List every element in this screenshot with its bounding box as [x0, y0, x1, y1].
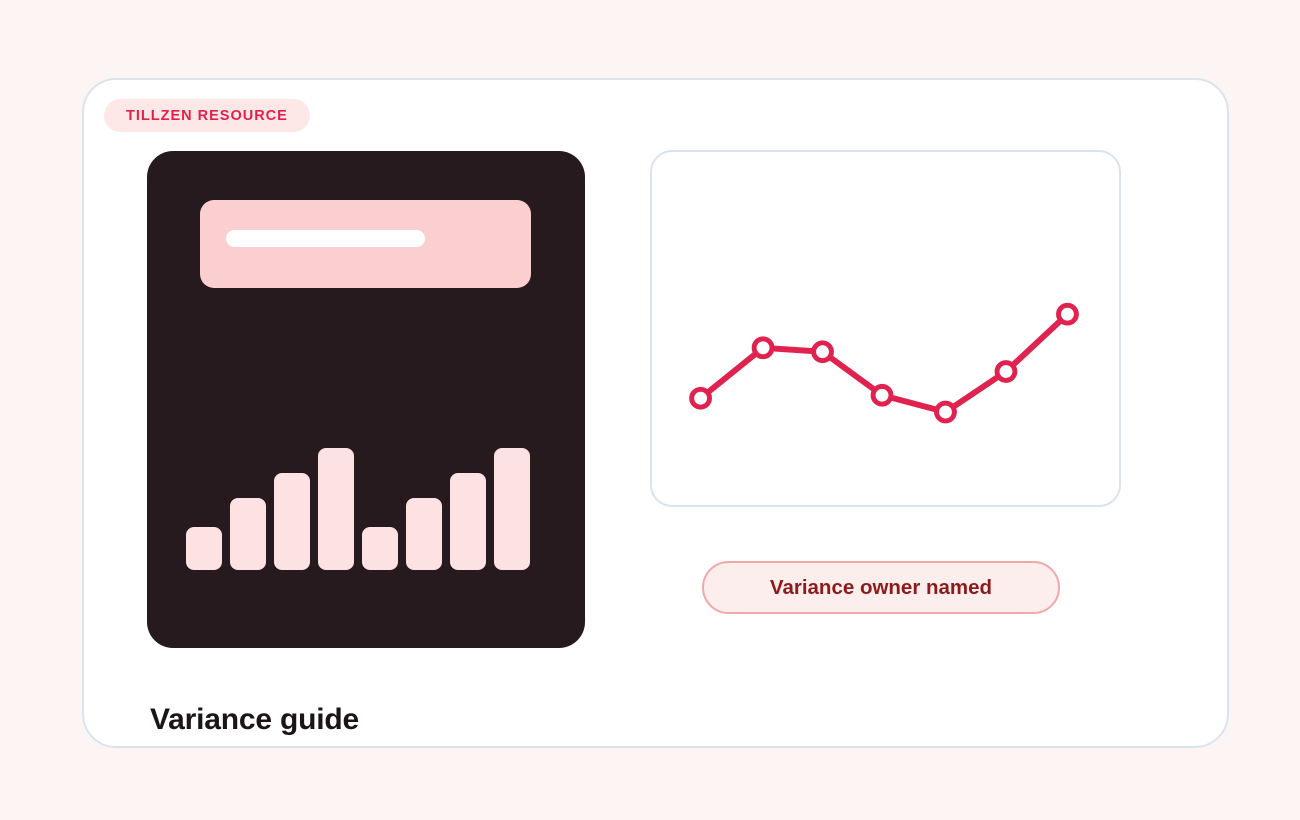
page-title: Variance guide [150, 703, 359, 737]
chart-data-point [1059, 305, 1077, 323]
chart-data-point [692, 389, 710, 407]
page-root: TILLZEN RESOURCE Variance owner named Va… [0, 0, 1300, 820]
preview-bar [494, 448, 530, 570]
preview-bar [186, 527, 222, 570]
preview-bar [318, 448, 354, 570]
caption-pill-label: Variance owner named [770, 576, 992, 600]
line-chart-panel [650, 150, 1121, 507]
status-badge: TILLZEN RESOURCE [104, 99, 310, 132]
chart-data-point [997, 363, 1015, 381]
dark-preview-panel [147, 151, 585, 648]
preview-bar [230, 498, 266, 570]
chart-data-point [873, 386, 891, 404]
preview-header-block [200, 200, 531, 288]
status-badge-label: TILLZEN RESOURCE [126, 108, 288, 124]
caption-pill: Variance owner named [702, 561, 1060, 614]
preview-bar [274, 473, 310, 570]
chart-data-point [814, 343, 832, 361]
preview-header-line [226, 230, 425, 247]
chart-data-point [937, 403, 955, 421]
preview-bar [450, 473, 486, 570]
line-chart [652, 152, 1119, 505]
preview-bar [362, 527, 398, 570]
preview-bar-chart [186, 444, 528, 570]
chart-data-point [754, 339, 772, 357]
preview-bar [406, 498, 442, 570]
